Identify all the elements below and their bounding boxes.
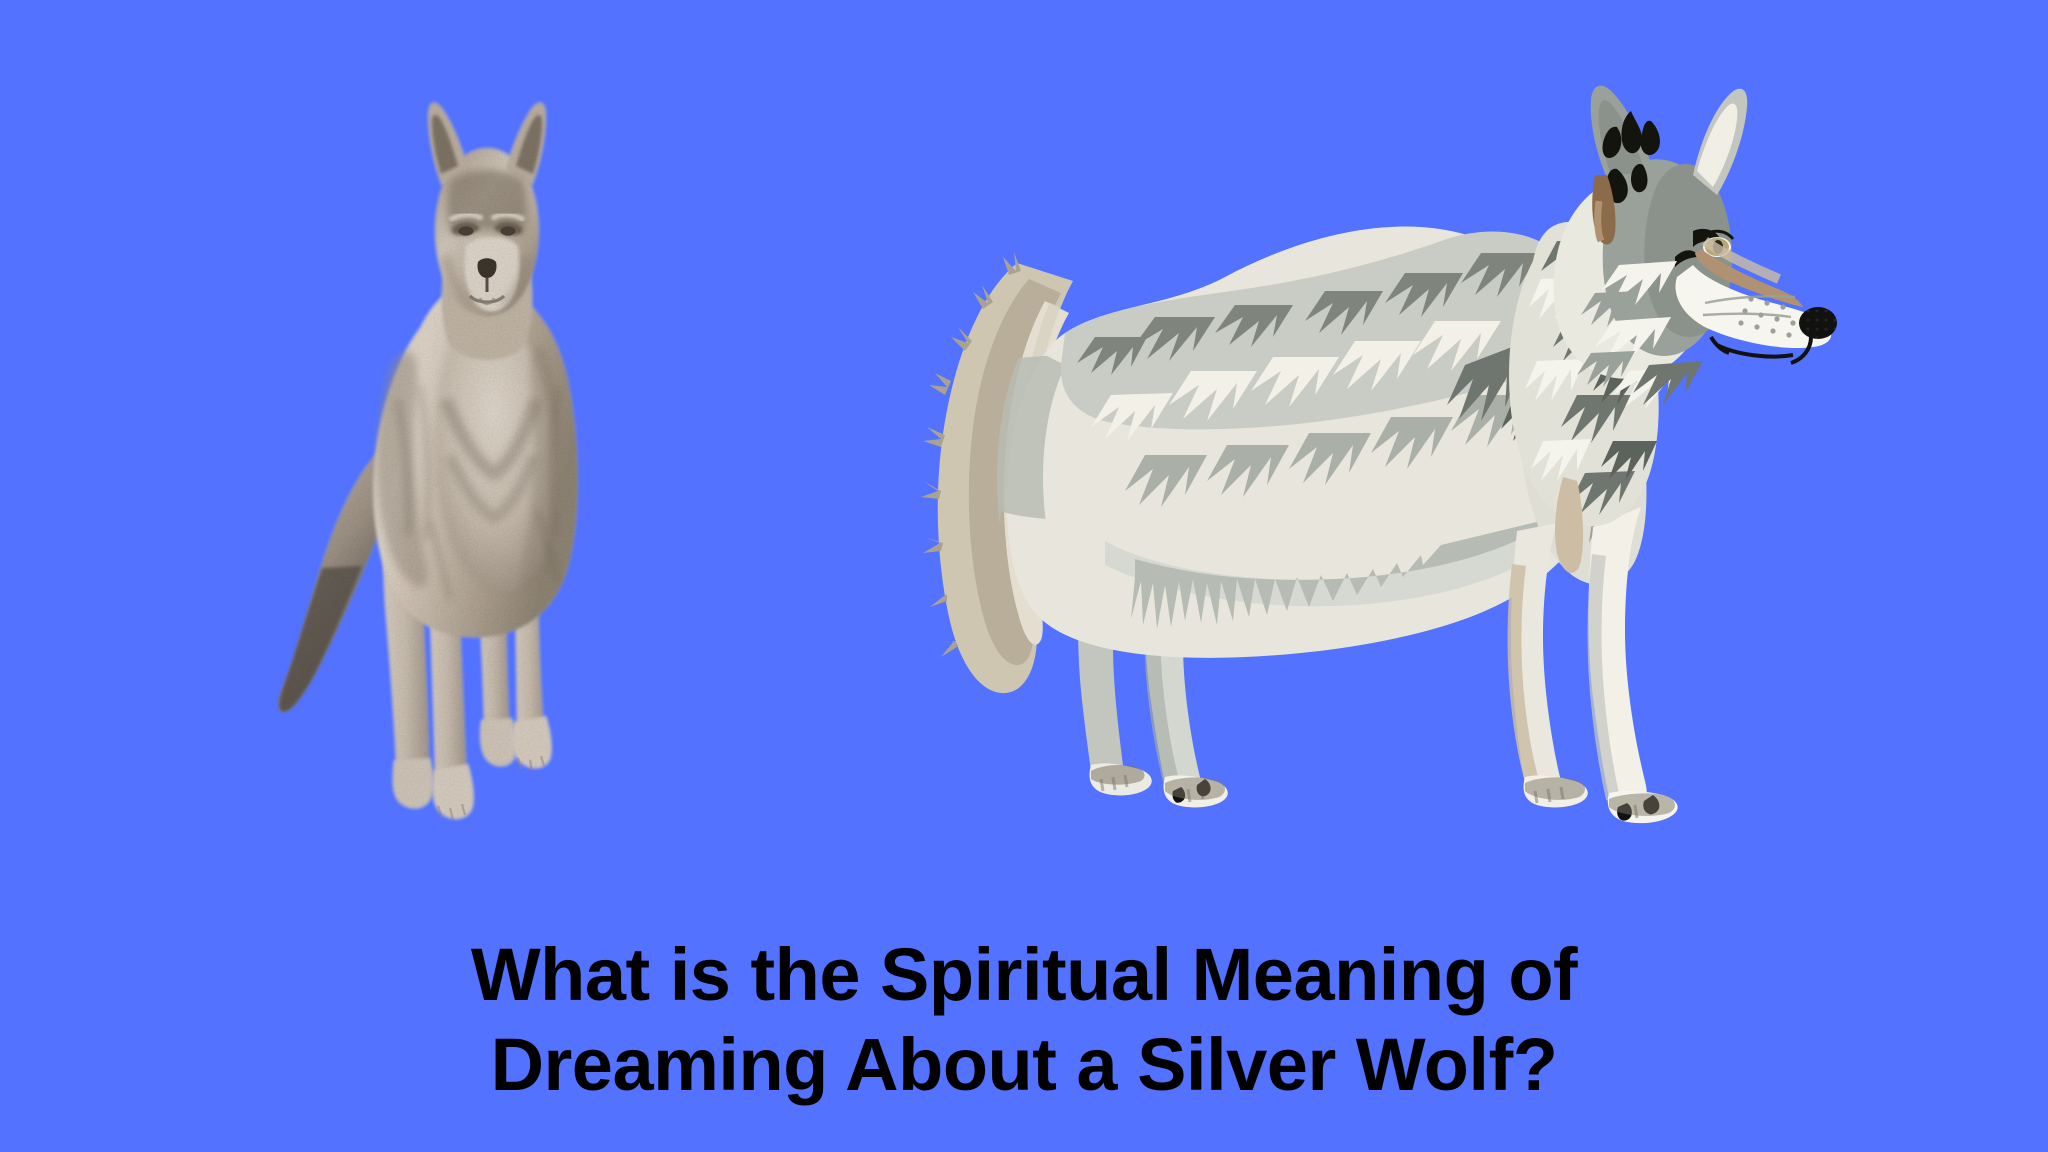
page-headline: What is the Spiritual Meaning of Dreamin… (0, 930, 2048, 1111)
headline-line-2: Dreaming About a Silver Wolf? (0, 1020, 2048, 1110)
vector-wolf-body (921, 86, 1837, 824)
watercolor-wolf-body (278, 102, 578, 820)
watercolor-wolf-illustration (270, 70, 670, 830)
vector-wolf-illustration (905, 65, 1845, 845)
featured-image-canvas: What is the Spiritual Meaning of Dreamin… (0, 0, 2048, 1152)
headline-line-1: What is the Spiritual Meaning of (0, 930, 2048, 1020)
